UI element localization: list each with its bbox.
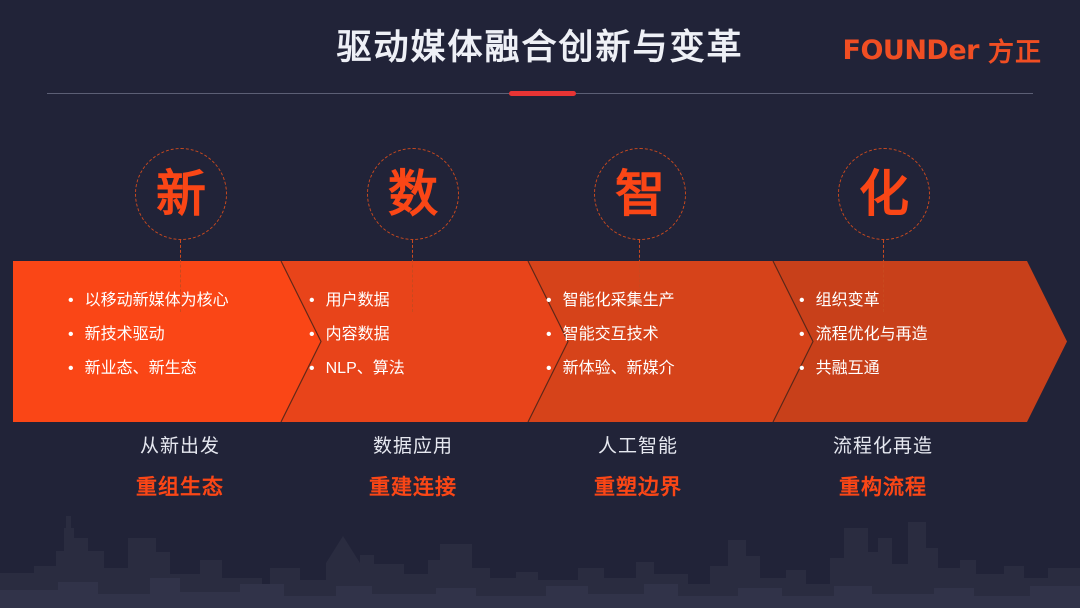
caption-top-3: 人工智能 (528, 434, 748, 460)
list-item: •新业态、新生态 (68, 359, 298, 379)
bullet-list-1: •以移动新媒体为核心 •新技术驱动 •新业态、新生态 (68, 291, 298, 393)
dashed-circle-icon-3: 智 (594, 148, 686, 240)
bullet-text: 智能化采集生产 (563, 291, 675, 311)
bullet-text: 用户数据 (326, 291, 390, 311)
bullet-text: 新业态、新生态 (85, 359, 197, 379)
caption-block-1: 从新出发 重组生态 (70, 434, 290, 502)
dashed-circle-icon-4: 化 (838, 148, 930, 240)
list-item: •智能交互技术 (546, 325, 776, 345)
bullet-text: 新技术驱动 (85, 325, 165, 345)
list-item: •NLP、算法 (309, 359, 539, 379)
key-character-node-1: 新 (135, 148, 227, 240)
list-item: •共融互通 (799, 359, 1029, 379)
dashed-circle-icon-2: 数 (367, 148, 459, 240)
key-character-2: 数 (388, 169, 438, 219)
caption-block-2: 数据应用 重建连接 (303, 434, 523, 502)
caption-bottom-1: 重组生态 (70, 474, 290, 502)
list-item: •新技术驱动 (68, 325, 298, 345)
bullet-dot-icon: • (799, 359, 805, 379)
bullet-list-4: •组织变革 •流程优化与再造 •共融互通 (799, 291, 1029, 393)
header-accent-bar (509, 91, 576, 96)
bullet-list-2: •用户数据 •内容数据 •NLP、算法 (309, 291, 539, 393)
bullet-text: 内容数据 (326, 325, 390, 345)
bullet-dot-icon: • (546, 359, 552, 379)
caption-top-4: 流程化再造 (773, 434, 993, 460)
key-character-node-4: 化 (838, 148, 930, 240)
bullet-dot-icon: • (799, 291, 805, 311)
slide-header: 驱动媒体融合创新与变革 (0, 0, 1080, 108)
caption-top-1: 从新出发 (70, 434, 290, 460)
bullet-text: 组织变革 (816, 291, 880, 311)
list-item: •新体验、新媒介 (546, 359, 776, 379)
key-character-node-2: 数 (367, 148, 459, 240)
bullet-text: NLP、算法 (326, 359, 405, 379)
bullet-dot-icon: • (546, 291, 552, 311)
key-character-1: 新 (156, 169, 206, 219)
key-character-4: 化 (859, 169, 909, 219)
caption-top-2: 数据应用 (303, 434, 523, 460)
list-item: •用户数据 (309, 291, 539, 311)
slide-canvas: 驱动媒体融合创新与变革 FOUNDer 方正 新 数 智 (0, 0, 1080, 608)
key-character-node-3: 智 (594, 148, 686, 240)
list-item: •以移动新媒体为核心 (68, 291, 298, 311)
bullet-dot-icon: • (309, 325, 315, 345)
list-item: •流程优化与再造 (799, 325, 1029, 345)
bullet-dot-icon: • (799, 325, 805, 345)
bullet-text: 共融互通 (816, 359, 880, 379)
bullet-text: 流程优化与再造 (816, 325, 928, 345)
caption-bottom-4: 重构流程 (773, 474, 993, 502)
bullet-dot-icon: • (68, 291, 74, 311)
city-skyline-decoration (0, 508, 1080, 608)
chevron-band-text: •以移动新媒体为核心 •新技术驱动 •新业态、新生态 •用户数据 •内容数据 •… (13, 261, 1067, 422)
bullet-text: 新体验、新媒介 (563, 359, 675, 379)
caption-bottom-2: 重建连接 (303, 474, 523, 502)
dashed-circle-icon-1: 新 (135, 148, 227, 240)
bullet-dot-icon: • (68, 325, 74, 345)
list-item: •组织变革 (799, 291, 1029, 311)
caption-block-4: 流程化再造 重构流程 (773, 434, 993, 502)
bullet-text: 以移动新媒体为核心 (85, 291, 229, 311)
key-character-3: 智 (615, 169, 665, 219)
bullet-text: 智能交互技术 (563, 325, 659, 345)
page-title: 驱动媒体融合创新与变革 (0, 24, 1080, 72)
caption-bottom-3: 重塑边界 (528, 474, 748, 502)
bullet-dot-icon: • (309, 291, 315, 311)
list-item: •内容数据 (309, 325, 539, 345)
caption-block-3: 人工智能 重塑边界 (528, 434, 748, 502)
bullet-list-3: •智能化采集生产 •智能交互技术 •新体验、新媒介 (546, 291, 776, 393)
bullet-dot-icon: • (546, 325, 552, 345)
bullet-dot-icon: • (309, 359, 315, 379)
bullet-dot-icon: • (68, 359, 74, 379)
list-item: •智能化采集生产 (546, 291, 776, 311)
